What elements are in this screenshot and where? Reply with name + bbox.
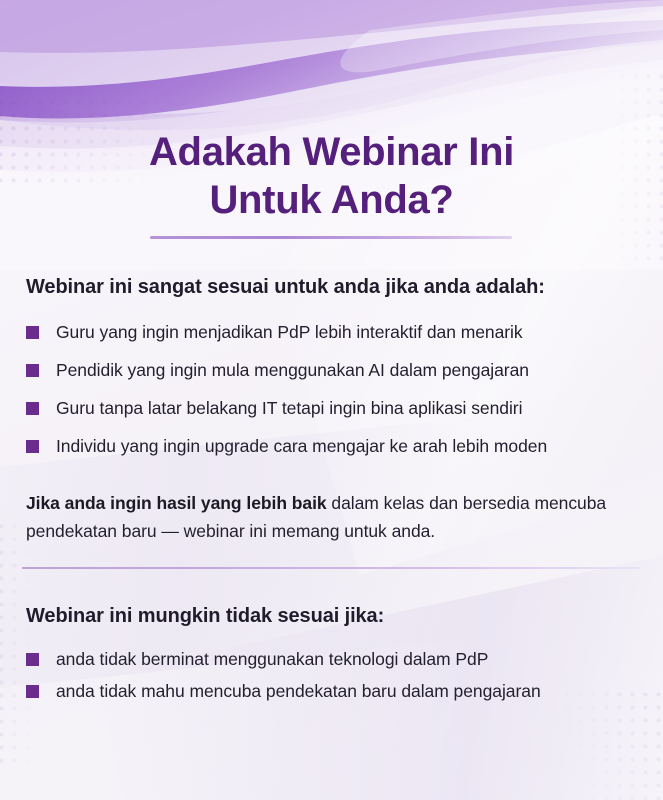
page-title: Adakah Webinar Ini Untuk Anda? bbox=[0, 128, 663, 224]
title-line-1: Adakah Webinar Ini bbox=[0, 128, 663, 176]
list-item: Pendidik yang ingin mula menggunakan AI … bbox=[26, 359, 547, 382]
fit-section-heading: Webinar ini sangat sesuai untuk anda jik… bbox=[26, 276, 545, 299]
square-bullet-icon bbox=[26, 440, 39, 453]
list-item-label: Pendidik yang ingin mula menggunakan AI … bbox=[56, 359, 529, 382]
section-divider bbox=[22, 567, 640, 569]
list-item-label: anda tidak berminat menggunakan teknolog… bbox=[56, 648, 488, 671]
list-item-label: Guru yang ingin menjadikan PdP lebih int… bbox=[56, 321, 523, 344]
list-item-label: Individu yang ingin upgrade cara mengaja… bbox=[56, 435, 547, 458]
square-bullet-icon bbox=[26, 685, 39, 698]
square-bullet-icon bbox=[26, 653, 39, 666]
square-bullet-icon bbox=[26, 364, 39, 377]
not-fit-section-heading: Webinar ini mungkin tidak sesuai jika: bbox=[26, 605, 384, 628]
list-item-label: anda tidak mahu mencuba pendekatan baru … bbox=[56, 680, 541, 703]
title-line-2: Untuk Anda? bbox=[0, 176, 663, 224]
title-divider bbox=[150, 236, 512, 239]
not-fit-bullet-list: anda tidak berminat menggunakan teknolog… bbox=[26, 648, 541, 712]
webinar-info-poster: Adakah Webinar Ini Untuk Anda? Webinar i… bbox=[0, 0, 663, 800]
closing-paragraph: Jika anda ingin hasil yang lebih baik da… bbox=[26, 489, 642, 545]
list-item-label: Guru tanpa latar belakang IT tetapi ingi… bbox=[56, 397, 522, 420]
list-item: anda tidak berminat menggunakan teknolog… bbox=[26, 648, 541, 671]
closing-paragraph-bold: Jika anda ingin hasil yang lebih baik bbox=[26, 493, 327, 513]
square-bullet-icon bbox=[26, 326, 39, 339]
list-item: anda tidak mahu mencuba pendekatan baru … bbox=[26, 680, 541, 703]
halftone-dots-left-edge bbox=[0, 520, 41, 770]
list-item: Guru tanpa latar belakang IT tetapi ingi… bbox=[26, 397, 547, 420]
fit-bullet-list: Guru yang ingin menjadikan PdP lebih int… bbox=[26, 321, 547, 473]
list-item: Individu yang ingin upgrade cara mengaja… bbox=[26, 435, 547, 458]
square-bullet-icon bbox=[26, 402, 39, 415]
list-item: Guru yang ingin menjadikan PdP lebih int… bbox=[26, 321, 547, 344]
halftone-dots-bottom-right bbox=[561, 688, 663, 800]
